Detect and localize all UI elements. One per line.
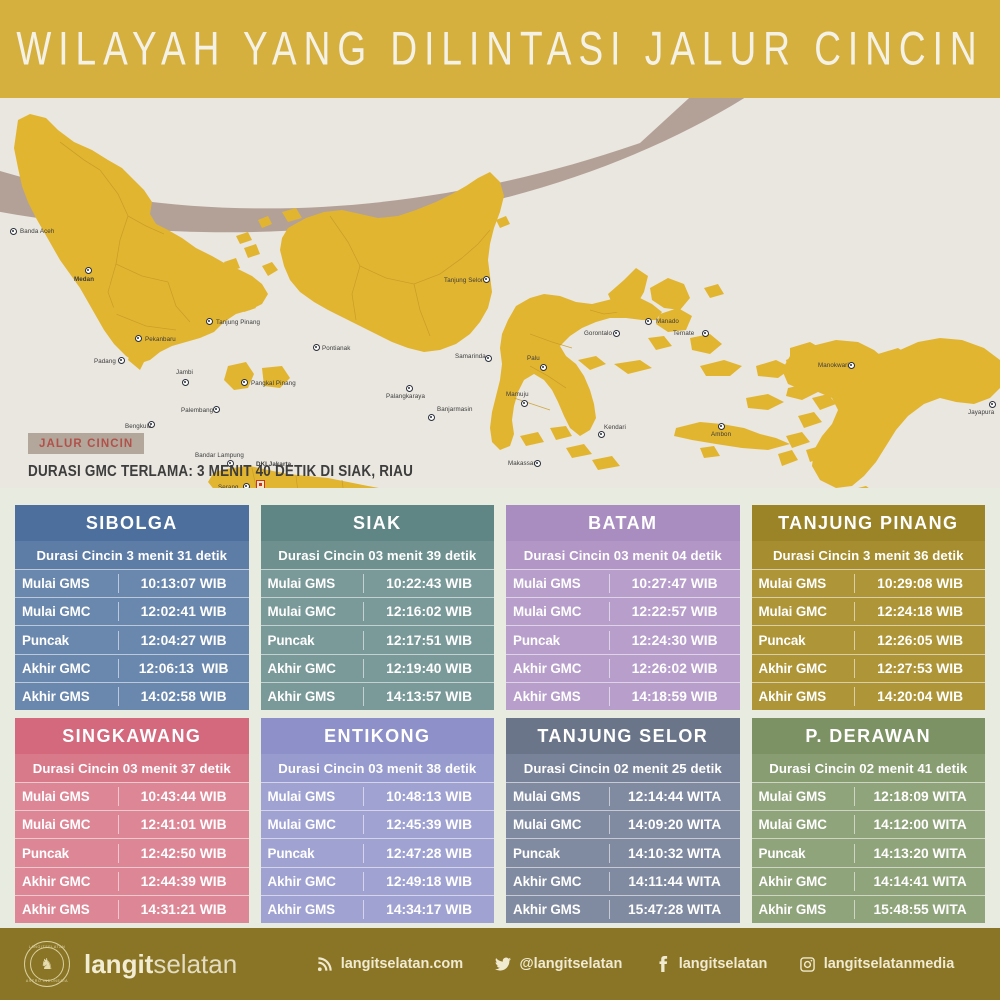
city-label-padang: Padang — [94, 358, 116, 365]
city-label-jambi: Jambi — [176, 369, 193, 376]
table-row: Akhir GMS15:48:55 WITA — [752, 895, 986, 923]
row-value: 12:22:57 WIB — [609, 602, 740, 621]
footer-link-label: langitselatanmedia — [824, 956, 955, 972]
row-label: Akhir GMC — [261, 661, 364, 676]
row-value: 12:45:39 WIB — [363, 815, 494, 834]
card-rows: Mulai GMS10:29:08 WIBMulai GMC12:24:18 W… — [752, 569, 986, 710]
city-card-entikong: ENTIKONGDurasi Cincin 03 menit 38 detikM… — [261, 718, 495, 923]
brand-wordmark: langitselatan — [84, 951, 237, 977]
city-label-tanjung-selor: Tanjung Selor — [444, 277, 483, 284]
card-rows: Mulai GMS12:18:09 WITAMulai GMC14:12:00 … — [752, 782, 986, 923]
row-label: Akhir GMS — [261, 902, 364, 917]
city-label-bengkulu: Bengkulu — [125, 423, 152, 430]
row-value: 14:09:20 WITA — [609, 815, 740, 834]
row-label: Akhir GMC — [752, 874, 855, 889]
row-value: 12:26:05 WIB — [854, 631, 985, 650]
row-label: Mulai GMC — [15, 817, 118, 832]
row-label: Akhir GMS — [15, 689, 118, 704]
row-value: 14:11:44 WITA — [609, 872, 740, 891]
row-value: 12:27:53 WIB — [854, 659, 985, 678]
card-title: TANJUNG PINANG — [752, 505, 986, 541]
instagram-icon — [799, 956, 816, 973]
capital-marker-dki-jakarta — [256, 480, 265, 488]
city-label-medan: Medan — [74, 276, 94, 283]
row-label: Puncak — [261, 633, 364, 648]
city-marker-palembang — [213, 406, 220, 413]
row-label: Puncak — [752, 846, 855, 861]
card-title: P. DERAWAN — [752, 718, 986, 754]
seal-inner-ring: ♞ — [30, 947, 64, 981]
row-value: 15:47:28 WITA — [609, 900, 740, 919]
city-marker-serang — [243, 483, 250, 488]
row-value: 12:42:50 WIB — [118, 844, 249, 863]
city-marker-pangkal-pinang — [241, 379, 248, 386]
footer-link-rss[interactable]: langitselatan.com — [316, 956, 463, 973]
table-row: Mulai GMS10:13:07 WIB — [15, 569, 249, 597]
row-value: 14:02:58 WIB — [118, 687, 249, 706]
city-label-tanjung-pinang: Tanjung Pinang — [216, 319, 260, 326]
row-label: Akhir GMC — [15, 661, 118, 676]
table-row: Akhir GMC12:44:39 WIB — [15, 867, 249, 895]
footer-link-facebook[interactable]: langitselatan — [654, 956, 768, 973]
table-row: Mulai GMC12:45:39 WIB — [261, 810, 495, 838]
card-title: TANJUNG SELOR — [506, 718, 740, 754]
card-title: BATAM — [506, 505, 740, 541]
row-label: Akhir GMS — [506, 902, 609, 917]
city-marker-manado — [645, 318, 652, 325]
row-label: Mulai GMC — [752, 817, 855, 832]
table-row: Mulai GMS10:29:08 WIB — [752, 569, 986, 597]
row-value: 12:47:28 WIB — [363, 844, 494, 863]
row-value: 14:13:57 WIB — [363, 687, 494, 706]
row-label: Akhir GMS — [752, 689, 855, 704]
row-value: 10:22:43 WIB — [363, 574, 494, 593]
card-rows: Mulai GMS10:22:43 WIBMulai GMC12:16:02 W… — [261, 569, 495, 710]
card-title: SIBOLGA — [15, 505, 249, 541]
table-row: Mulai GMS10:27:47 WIB — [506, 569, 740, 597]
legend-jalur-cincin: JALUR CINCIN — [28, 433, 144, 454]
row-label: Mulai GMC — [506, 604, 609, 619]
table-row: Akhir GMC14:14:41 WITA — [752, 867, 986, 895]
row-value: 14:31:21 WIB — [118, 900, 249, 919]
city-marker-ternate — [702, 330, 709, 337]
page-footer: LANGITSELATAN ♞ ASTRO INDONESIA langitse… — [0, 928, 1000, 1000]
city-marker-mamuju — [521, 400, 528, 407]
row-label: Mulai GMC — [261, 604, 364, 619]
kalimantan-landmass — [280, 172, 504, 352]
city-card-tanjung-pinang: TANJUNG PINANGDurasi Cincin 3 menit 36 d… — [752, 505, 986, 710]
row-value: 10:29:08 WIB — [854, 574, 985, 593]
row-value: 14:20:04 WIB — [854, 687, 985, 706]
row-value: 12:18:09 WITA — [854, 787, 985, 806]
row-label: Mulai GMS — [261, 789, 364, 804]
footer-link-label: @langitselatan — [520, 956, 623, 972]
city-label-palu: Palu — [527, 355, 540, 362]
brand-block: LANGITSELATAN ♞ ASTRO INDONESIA langitse… — [0, 941, 300, 987]
indonesia-map: Banda Aceh Medan Tanjung Pinang Pekanbar… — [0, 98, 1000, 488]
city-label-bandar-lampung: Bandar Lampung — [195, 452, 244, 459]
table-row: Akhir GMS14:18:59 WIB — [506, 682, 740, 710]
row-label: Puncak — [15, 846, 118, 861]
card-title: SIAK — [261, 505, 495, 541]
card-rows: Mulai GMS12:14:44 WITAMulai GMC14:09:20 … — [506, 782, 740, 923]
table-row: Mulai GMC12:16:02 WIB — [261, 597, 495, 625]
card-rows: Mulai GMS10:48:13 WIBMulai GMC12:45:39 W… — [261, 782, 495, 923]
row-value: 10:48:13 WIB — [363, 787, 494, 806]
seal-top-text: LANGITSELATAN — [25, 945, 69, 949]
facebook-icon — [654, 956, 671, 973]
city-marker-manokwari — [848, 362, 855, 369]
row-value: 12:24:18 WIB — [854, 602, 985, 621]
city-marker-pontianak — [313, 344, 320, 351]
row-label: Akhir GMS — [752, 902, 855, 917]
table-row: Puncak14:10:32 WITA — [506, 838, 740, 866]
city-marker-gorontalo — [613, 330, 620, 337]
footer-link-instagram[interactable]: langitselatanmedia — [799, 956, 955, 973]
city-label-palembang: Palembang — [181, 407, 213, 414]
brand-light: selatan — [153, 949, 237, 979]
table-row: Mulai GMS10:22:43 WIB — [261, 569, 495, 597]
card-duration: Durasi Cincin 3 menit 36 detik — [752, 541, 986, 569]
row-value: 12:44:39 WIB — [118, 872, 249, 891]
city-label-manado: Manado — [656, 318, 679, 325]
card-duration: Durasi Cincin 02 menit 41 detik — [752, 754, 986, 782]
card-duration: Durasi Cincin 03 menit 39 detik — [261, 541, 495, 569]
table-row: Mulai GMS12:18:09 WITA — [752, 782, 986, 810]
city-card-siak: SIAKDurasi Cincin 03 menit 39 detikMulai… — [261, 505, 495, 710]
row-label: Akhir GMC — [506, 874, 609, 889]
row-value: 12:49:18 WIB — [363, 872, 494, 891]
city-marker-banjarmasin — [428, 414, 435, 421]
row-label: Akhir GMS — [261, 689, 364, 704]
city-label-ternate: Ternate — [673, 330, 694, 337]
footer-link-label: langitselatan.com — [341, 956, 463, 972]
table-row: Mulai GMC12:02:41 WIB — [15, 597, 249, 625]
row-value: 14:34:17 WIB — [363, 900, 494, 919]
table-row: Mulai GMC12:24:18 WIB — [752, 597, 986, 625]
city-label-serang: Serang — [218, 484, 239, 488]
sulawesi-landmass — [490, 294, 662, 450]
city-card-tanjung-selor: TANJUNG SELORDurasi Cincin 02 menit 25 d… — [506, 718, 740, 923]
seal-horse-rider-icon: ♞ — [40, 957, 53, 972]
card-rows: Mulai GMS10:13:07 WIBMulai GMC12:02:41 W… — [15, 569, 249, 710]
city-marker-jayapura — [989, 401, 996, 408]
row-label: Mulai GMC — [752, 604, 855, 619]
table-row: Akhir GMS14:34:17 WIB — [261, 895, 495, 923]
row-value: 12:41:01 WIB — [118, 815, 249, 834]
city-label-pekanbaru: Pekanbaru — [145, 336, 176, 343]
table-row: Akhir GMS15:47:28 WITA — [506, 895, 740, 923]
city-marker-pekanbaru — [135, 335, 142, 342]
city-card-sibolga: SIBOLGADurasi Cincin 3 menit 31 detikMul… — [15, 505, 249, 710]
city-card-singkawang: SINGKAWANGDurasi Cincin 03 menit 37 deti… — [15, 718, 249, 923]
city-marker-tanjung-pinang — [206, 318, 213, 325]
row-value: 14:18:59 WIB — [609, 687, 740, 706]
city-marker-banda-aceh — [10, 228, 17, 235]
row-value: 12:14:44 WITA — [609, 787, 740, 806]
city-label-pangkal-pinang: Pangkal Pinang — [251, 380, 296, 387]
row-value: 10:43:44 WIB — [118, 787, 249, 806]
row-value: 14:13:20 WITA — [854, 844, 985, 863]
seal-bottom-text: ASTRO INDONESIA — [25, 979, 69, 983]
city-card-p-derawan: P. DERAWANDurasi Cincin 02 menit 41 deti… — [752, 718, 986, 923]
table-row: Akhir GMC12:06:13 WIB — [15, 654, 249, 682]
card-duration: Durasi Cincin 03 menit 38 detik — [261, 754, 495, 782]
row-label: Mulai GMS — [752, 576, 855, 591]
page-header: WILAYAH YANG DILINTASI JALUR CINCIN — [0, 0, 1000, 98]
table-row: Puncak12:26:05 WIB — [752, 625, 986, 653]
row-label: Mulai GMS — [752, 789, 855, 804]
city-label-jayapura: Jayapura — [968, 409, 994, 416]
row-value: 12:04:27 WIB — [118, 631, 249, 650]
row-label: Akhir GMC — [506, 661, 609, 676]
row-value: 10:13:07 WIB — [118, 574, 249, 593]
city-marker-kendari — [598, 431, 605, 438]
table-row: Akhir GMC14:11:44 WITA — [506, 867, 740, 895]
table-row: Puncak12:47:28 WIB — [261, 838, 495, 866]
table-row: Akhir GMC12:49:18 WIB — [261, 867, 495, 895]
rss-icon — [316, 956, 333, 973]
city-marker-palangkaraya — [406, 385, 413, 392]
row-value: 12:17:51 WIB — [363, 631, 494, 650]
city-label-kendari: Kendari — [604, 424, 626, 431]
page-title: WILAYAH YANG DILINTASI JALUR CINCIN — [16, 22, 983, 76]
card-rows: Mulai GMS10:27:47 WIBMulai GMC12:22:57 W… — [506, 569, 740, 710]
table-row: Mulai GMS10:43:44 WIB — [15, 782, 249, 810]
row-value: 12:26:02 WIB — [609, 659, 740, 678]
row-label: Akhir GMC — [261, 874, 364, 889]
city-timing-cards: SIBOLGADurasi Cincin 3 menit 31 detikMul… — [0, 505, 1000, 923]
row-label: Mulai GMC — [506, 817, 609, 832]
table-row: Akhir GMS14:31:21 WIB — [15, 895, 249, 923]
city-label-gorontalo: Gorontalo — [584, 330, 612, 337]
table-row: Akhir GMS14:02:58 WIB — [15, 682, 249, 710]
card-title: SINGKAWANG — [15, 718, 249, 754]
row-value: 12:19:40 WIB — [363, 659, 494, 678]
city-label-mamuju: Mamuju — [506, 391, 529, 398]
sumatra-landmass — [14, 114, 268, 364]
table-row: Mulai GMC12:41:01 WIB — [15, 810, 249, 838]
card-duration: Durasi Cincin 03 menit 37 detik — [15, 754, 249, 782]
row-label: Puncak — [506, 633, 609, 648]
row-label: Puncak — [261, 846, 364, 861]
city-marker-palu — [540, 364, 547, 371]
row-label: Akhir GMS — [506, 689, 609, 704]
city-label-banda-aceh: Banda Aceh — [20, 228, 54, 235]
table-row: Mulai GMS10:48:13 WIB — [261, 782, 495, 810]
table-row: Akhir GMS14:13:57 WIB — [261, 682, 495, 710]
brand-bold: langit — [84, 949, 153, 979]
city-label-ambon: Ambon — [711, 431, 731, 438]
footer-link-label: langitselatan — [679, 956, 768, 972]
table-row: Mulai GMC14:12:00 WITA — [752, 810, 986, 838]
row-label: Puncak — [506, 846, 609, 861]
row-value: 12:06:13 WIB — [118, 659, 249, 678]
city-label-banjarmasin: Banjarmasin — [437, 406, 473, 413]
row-label: Akhir GMC — [752, 661, 855, 676]
row-label: Puncak — [15, 633, 118, 648]
footer-social-links: langitselatan.com@langitselatanlangitsel… — [300, 956, 1000, 973]
row-label: Mulai GMC — [261, 817, 364, 832]
card-duration: Durasi Cincin 02 menit 25 detik — [506, 754, 740, 782]
card-title: ENTIKONG — [261, 718, 495, 754]
table-row: Puncak12:24:30 WIB — [506, 625, 740, 653]
row-label: Puncak — [752, 633, 855, 648]
card-rows: Mulai GMS10:43:44 WIBMulai GMC12:41:01 W… — [15, 782, 249, 923]
row-label: Mulai GMS — [15, 789, 118, 804]
langitselatan-seal-icon: LANGITSELATAN ♞ ASTRO INDONESIA — [24, 941, 70, 987]
row-value: 14:14:41 WITA — [854, 872, 985, 891]
city-marker-medan — [85, 267, 92, 274]
table-row: Puncak12:42:50 WIB — [15, 838, 249, 866]
footer-link-twitter[interactable]: @langitselatan — [495, 956, 623, 973]
table-row: Akhir GMC12:19:40 WIB — [261, 654, 495, 682]
city-marker-samarinda — [485, 355, 492, 362]
row-value: 10:27:47 WIB — [609, 574, 740, 593]
card-duration: Durasi Cincin 03 menit 04 detik — [506, 541, 740, 569]
city-label-samarinda: Samarinda — [455, 353, 486, 360]
row-label: Mulai GMS — [506, 576, 609, 591]
table-row: Akhir GMC12:26:02 WIB — [506, 654, 740, 682]
row-label: Mulai GMC — [15, 604, 118, 619]
row-value: 12:02:41 WIB — [118, 602, 249, 621]
city-marker-jambi — [182, 379, 189, 386]
city-label-manokwari: Manokwari — [818, 362, 849, 369]
legend-note: DURASI GMC TERLAMA: 3 MENIT 40 DETIK DI … — [28, 462, 413, 479]
table-row: Puncak12:04:27 WIB — [15, 625, 249, 653]
city-marker-ambon — [718, 423, 725, 430]
card-duration: Durasi Cincin 3 menit 31 detik — [15, 541, 249, 569]
city-label-palangkaraya: Palangkaraya — [386, 393, 425, 400]
table-row: Mulai GMC14:09:20 WITA — [506, 810, 740, 838]
city-label-makassar: Makassar — [508, 460, 536, 467]
table-row: Akhir GMS14:20:04 WIB — [752, 682, 986, 710]
row-value: 15:48:55 WITA — [854, 900, 985, 919]
row-value: 14:12:00 WITA — [854, 815, 985, 834]
city-label-pontianak: Pontianak — [322, 345, 350, 352]
row-value: 14:10:32 WITA — [609, 844, 740, 863]
city-card-batam: BATAMDurasi Cincin 03 menit 04 detikMula… — [506, 505, 740, 710]
row-label: Akhir GMS — [15, 902, 118, 917]
city-marker-tanjung-selor — [483, 276, 490, 283]
table-row: Mulai GMC12:22:57 WIB — [506, 597, 740, 625]
table-row: Akhir GMC12:27:53 WIB — [752, 654, 986, 682]
row-value: 12:16:02 WIB — [363, 602, 494, 621]
twitter-icon — [495, 956, 512, 973]
row-value: 12:24:30 WIB — [609, 631, 740, 650]
row-label: Mulai GMS — [261, 576, 364, 591]
table-row: Puncak12:17:51 WIB — [261, 625, 495, 653]
table-row: Mulai GMS12:14:44 WITA — [506, 782, 740, 810]
row-label: Mulai GMS — [506, 789, 609, 804]
table-row: Puncak14:13:20 WITA — [752, 838, 986, 866]
city-marker-padang — [118, 357, 125, 364]
row-label: Akhir GMC — [15, 874, 118, 889]
row-label: Mulai GMS — [15, 576, 118, 591]
